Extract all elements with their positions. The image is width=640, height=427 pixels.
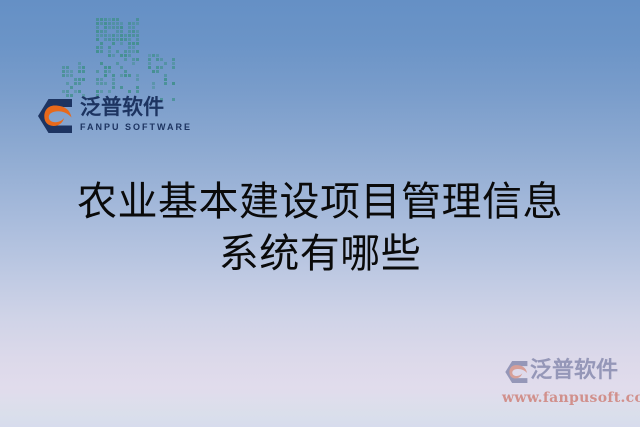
pixel-skyline-icon xyxy=(62,18,184,106)
brand-wordmark: 泛普软件 FANPU SOFTWARE xyxy=(80,94,184,133)
promo-banner: 泛普软件 FANPU SOFTWARE 农业基本建设项目管理信息 系统有哪些 泛… xyxy=(0,0,640,427)
fanpu-shield-leaf-icon xyxy=(504,359,530,385)
watermark-name: 泛普软件 xyxy=(530,357,618,385)
page-title-line-2: 系统有哪些 xyxy=(0,228,640,280)
watermark: 泛普软件 www.fanpusoft.com xyxy=(494,353,634,415)
brand-name-en: FANPU SOFTWARE xyxy=(80,122,184,133)
watermark-lockup: 泛普软件 xyxy=(494,353,634,387)
pixel-skyline-svg xyxy=(62,18,184,106)
page-title-line-1: 农业基本建设项目管理信息 xyxy=(0,176,640,228)
page-title: 农业基本建设项目管理信息 系统有哪些 xyxy=(0,176,640,280)
brand-logo: 泛普软件 FANPU SOFTWARE xyxy=(36,94,181,146)
brand-name-cn: 泛普软件 xyxy=(80,94,184,120)
fanpu-shield-leaf-icon xyxy=(36,96,76,136)
watermark-url: www.fanpusoft.com xyxy=(502,389,640,407)
